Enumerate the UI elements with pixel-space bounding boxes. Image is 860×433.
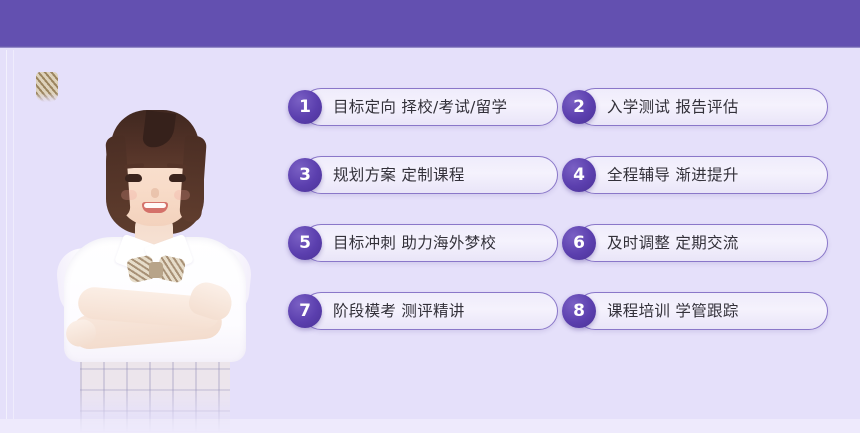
promo-banner: 1 目标定向 择校/考试/留学 2 入学测试 报告评估 3 规划方案 定制课程 … <box>0 0 860 433</box>
nose <box>151 188 159 198</box>
step-label-6: 及时调整 定期交流 <box>607 224 739 262</box>
teeth <box>144 203 166 208</box>
student-photo <box>18 52 282 433</box>
step-number-badge-5: 5 <box>288 226 322 260</box>
step-number-badge-4: 4 <box>562 158 596 192</box>
step-number-badge-6: 6 <box>562 226 596 260</box>
eye-right <box>169 174 186 182</box>
service-steps-list: 1 目标定向 择校/考试/留学 2 入学测试 报告评估 3 规划方案 定制课程 … <box>288 88 828 346</box>
step-label-1: 目标定向 择校/考试/留学 <box>333 88 507 126</box>
cheek-right <box>174 190 190 200</box>
eye-left <box>125 174 142 182</box>
step-label-4: 全程辅导 渐进提升 <box>607 156 739 194</box>
left-edge-line-inner <box>13 50 14 433</box>
step-number-badge-2: 2 <box>562 90 596 124</box>
bow-tie <box>128 257 184 283</box>
mouth <box>142 202 168 213</box>
step-label-2: 入学测试 报告评估 <box>607 88 739 126</box>
step-number-badge-8: 8 <box>562 294 596 328</box>
step-label-5: 目标冲刺 助力海外梦校 <box>333 224 496 262</box>
step-label-8: 课程培训 学管跟踪 <box>607 292 739 330</box>
bow-knot <box>149 262 163 278</box>
step-label-3: 规划方案 定制课程 <box>333 156 465 194</box>
step-number-badge-7: 7 <box>288 294 322 328</box>
step-label-7: 阶段模考 测评精讲 <box>333 292 465 330</box>
header-bar <box>0 0 860 48</box>
cheek-left <box>121 190 137 200</box>
step-number-badge-3: 3 <box>288 158 322 192</box>
step-number-badge-1: 1 <box>288 90 322 124</box>
bow-tie-tail <box>36 72 58 102</box>
left-edge-line-outer <box>6 50 7 433</box>
